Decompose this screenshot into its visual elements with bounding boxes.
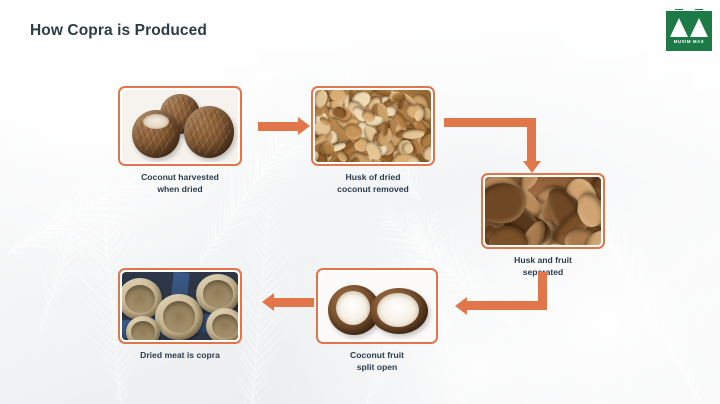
step-4: Coconut fruit split open	[316, 268, 438, 373]
step-1-caption: Coconut harvested when dried	[141, 172, 219, 195]
page-title: How Copra is Produced	[30, 22, 207, 40]
logo-text: MUSIM MAS	[674, 39, 705, 44]
husk-removed-image	[315, 90, 431, 162]
logo-mountain-icon	[670, 14, 708, 37]
dried-copra-image	[122, 272, 238, 340]
coconut-split-open-image	[320, 272, 434, 340]
musim-mas-logo: MUSIM MAS	[666, 11, 712, 51]
step-5: Dried meat is copra	[118, 268, 242, 362]
step-3: Husk and fruit separated	[481, 173, 605, 278]
arrow-step3-to-step4	[455, 272, 555, 320]
step-2-caption: Husk of dried coconut removed	[337, 172, 409, 195]
step-2-photo	[311, 86, 435, 166]
step-4-photo	[316, 268, 438, 344]
arrow-step4-to-step5	[262, 292, 314, 312]
arrow-step1-to-step2	[258, 116, 312, 136]
step-1: Coconut harvested when dried	[118, 86, 242, 195]
coconuts-harvested-image	[122, 90, 238, 162]
step-5-caption: Dried meat is copra	[140, 350, 220, 362]
step-5-photo	[118, 268, 242, 344]
step-1-photo	[118, 86, 242, 166]
infographic-slide: How Copra is Produced MUSIM MAS Coconut …	[0, 0, 720, 404]
step-4-caption: Coconut fruit split open	[350, 350, 404, 373]
step-2: Husk of dried coconut removed	[311, 86, 435, 195]
husk-fruit-separated-image	[485, 177, 601, 245]
step-3-photo	[481, 173, 605, 249]
